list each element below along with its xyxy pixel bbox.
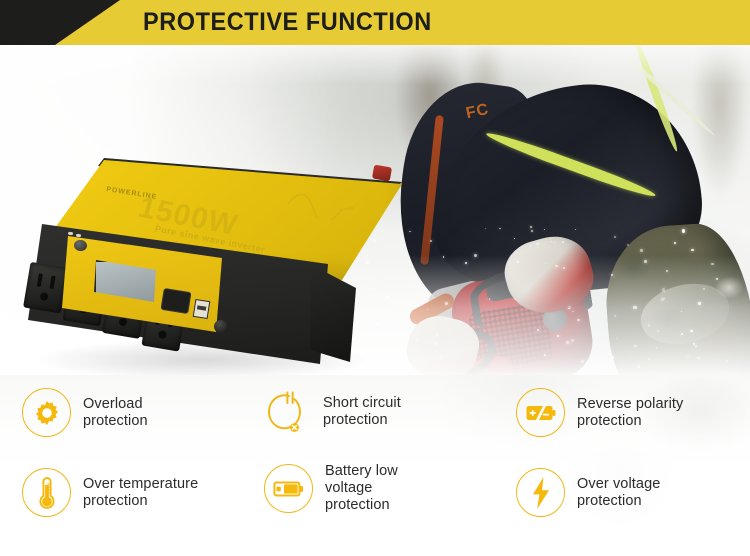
feature-label-line2: protection	[83, 493, 198, 510]
feature-item-over-voltage[interactable]: Over voltage protection	[516, 468, 660, 517]
feature-label-line2: protection	[323, 412, 401, 429]
usb-port[interactable]	[193, 299, 211, 319]
status-led-red	[76, 234, 81, 238]
product-inverter: POWERLINE 1500W Pure sine wave inverter …	[18, 150, 418, 375]
feature-label: Over temperature protection	[83, 476, 198, 510]
feature-label-line2: voltage	[325, 480, 398, 497]
feature-item-over-temperature[interactable]: Over temperature protection	[22, 468, 198, 517]
status-led-green	[68, 232, 73, 236]
ac-outlet[interactable]	[23, 262, 68, 314]
feature-label: Battery low voltage protection	[325, 463, 398, 514]
feature-item-reverse-polarity[interactable]: Reverse polarity protection	[516, 388, 683, 437]
lightning-bolt-icon	[516, 468, 565, 517]
feature-item-short-circuit[interactable]: Short circuit protection	[264, 388, 401, 435]
feature-label-line1: Over temperature	[83, 476, 198, 493]
thermometer-icon	[22, 468, 71, 517]
jacket-white-stripe	[610, 93, 740, 213]
page-title: PROTECTIVE FUNCTION	[143, 0, 432, 45]
feature-label-line1: Overload	[83, 396, 148, 413]
feature-label: Overload protection	[83, 396, 148, 430]
features-section: Overload protection Short circuit	[0, 375, 750, 556]
feature-label-line1: Over voltage	[577, 476, 660, 493]
reverse-polarity-battery-icon	[516, 388, 565, 437]
feature-label: Over voltage protection	[577, 476, 660, 510]
inverter-rear-switch	[372, 165, 392, 182]
page-header: PROTECTIVE FUNCTION	[0, 0, 750, 45]
feature-label: Reverse polarity protection	[577, 396, 683, 430]
feature-label-line2: protection	[577, 413, 683, 430]
feature-label-line1: Short circuit	[323, 395, 401, 412]
feature-label-line1: Reverse polarity	[577, 396, 683, 413]
low-battery-icon	[264, 464, 313, 513]
header-corner-wedge	[0, 0, 120, 45]
features-grid: Overload protection Short circuit	[0, 375, 750, 556]
feature-item-battery-low-voltage[interactable]: Battery low voltage protection	[264, 463, 398, 514]
hero-photo: FC Husqvarna	[0, 45, 750, 375]
protective-function-banner: PROTECTIVE FUNCTION FC Husqvarna	[0, 0, 750, 556]
short-circuit-icon	[264, 388, 311, 435]
dc-input-socket[interactable]	[160, 288, 191, 314]
feature-item-overload[interactable]: Overload protection	[22, 388, 148, 437]
feature-label-line2: protection	[577, 493, 660, 510]
gear-icon	[22, 388, 71, 437]
feature-label-line1: Battery low	[325, 463, 398, 480]
feature-label: Short circuit protection	[323, 395, 401, 429]
feature-label-line3: protection	[325, 497, 398, 514]
feature-label-line2: protection	[83, 413, 148, 430]
